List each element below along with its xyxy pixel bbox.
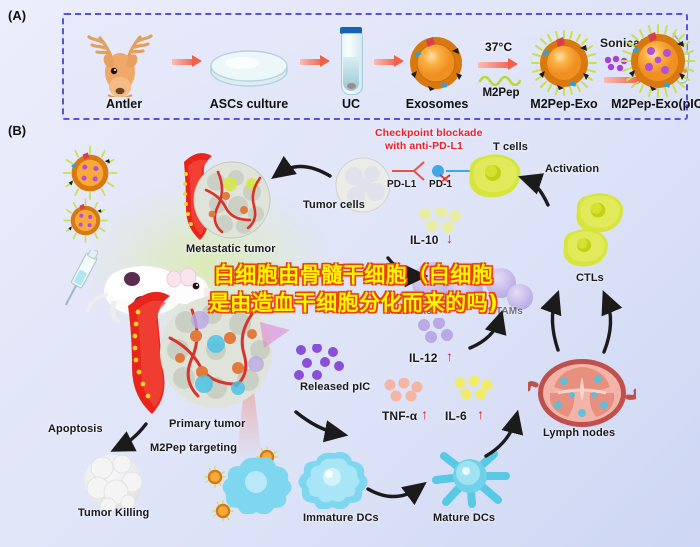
label-pd-l1: PD-L1 <box>387 179 416 190</box>
tnf-alpha-upregulation-arrow: ↑ <box>421 407 428 421</box>
immature-dc-illustration <box>298 447 370 514</box>
scientific-figure: (A) <box>0 0 700 547</box>
label-apoptosis: Apoptosis <box>48 423 103 435</box>
panel-a-container: Antler ASCs culture UC <box>62 13 688 120</box>
exosome-icon <box>62 145 118 206</box>
centrifuge-tube-icon <box>336 27 366 95</box>
label-immature-dcs: Immature DCs <box>303 512 379 524</box>
il-6-upregulation-arrow: ↑ <box>477 407 484 421</box>
targeted-macrophage-illustration <box>222 452 294 519</box>
label-t-cells: T cells <box>493 141 528 153</box>
panel-a-step-label-antler: Antler <box>78 97 170 111</box>
il-12-upregulation-arrow: ↑ <box>446 349 453 363</box>
label-m2-tams: M2 TAMs <box>388 306 432 317</box>
label-activation: Activation <box>545 163 599 175</box>
process-arrow <box>300 55 330 68</box>
label-tumor-cells: Tumor cells <box>303 199 365 211</box>
panel-a-step-label-uc: UC <box>322 97 380 111</box>
label-checkpoint-blockade-line2: with anti-PD-L1 <box>385 140 463 152</box>
process-arrow <box>478 58 520 71</box>
label-metastatic-tumor: Metastatic tumor <box>186 243 276 255</box>
label-il-10: IL-10 <box>410 233 439 247</box>
label-tnf-alpha: TNF-α <box>382 409 417 423</box>
il-10-downregulation-arrow: ↓ <box>446 231 453 245</box>
loaded-exosome-icon-main <box>620 23 696 99</box>
exosome-icon <box>408 35 464 91</box>
label-il-12: IL-12 <box>409 351 438 365</box>
label-released-pic: Released pIC <box>300 381 370 393</box>
primary-tumor-illustration <box>120 288 300 428</box>
panel-a-tag: (A) <box>8 8 26 23</box>
petri-dish-icon <box>204 45 294 93</box>
label-tumor-killing: Tumor Killing <box>78 507 149 519</box>
panel-a-step-label-exosomes: Exosomes <box>398 97 476 111</box>
label-checkpoint-blockade-line1: Checkpoint blockade <box>375 127 483 139</box>
panel-a-step-label-m2pep-exo-pic: M2Pep-Exo(pIC) <box>592 97 700 111</box>
label-il-6: IL-6 <box>445 409 467 423</box>
released-pic-dots <box>293 344 345 385</box>
temperature-annotation: 37°C <box>485 40 512 54</box>
lymph-node-illustration <box>528 355 636 436</box>
label-m1-tams: M1 TAMs <box>479 306 523 317</box>
il-6-cytokine-dots <box>452 376 494 407</box>
label-primary-tumor: Primary tumor <box>169 418 246 430</box>
label-pd-1: PD-1 <box>429 179 452 190</box>
process-arrow <box>374 55 404 68</box>
t-cell-illustration <box>462 152 524 203</box>
ctl-cell-illustration <box>557 227 611 272</box>
deer-icon <box>78 25 170 97</box>
peptide-exosome-icon <box>530 29 598 97</box>
il-12-cytokine-dots <box>416 318 456 351</box>
label-lymph-nodes: Lymph nodes <box>543 427 615 439</box>
m2pep-squiggle-icon <box>478 72 524 86</box>
panel-a-step-label-ascs: ASCs culture <box>198 97 300 111</box>
exosome-icon <box>63 198 108 248</box>
mature-dc-illustration <box>428 446 512 515</box>
label-ctls: CTLs <box>576 272 604 284</box>
panel-b-tag: (B) <box>8 123 26 138</box>
process-arrow <box>172 55 202 68</box>
metastatic-tumor-illustration <box>172 148 300 253</box>
tnf-alpha-cytokine-dots <box>382 378 424 409</box>
label-mature-dcs: Mature DCs <box>433 512 495 524</box>
m2-tam-cell <box>447 272 483 308</box>
